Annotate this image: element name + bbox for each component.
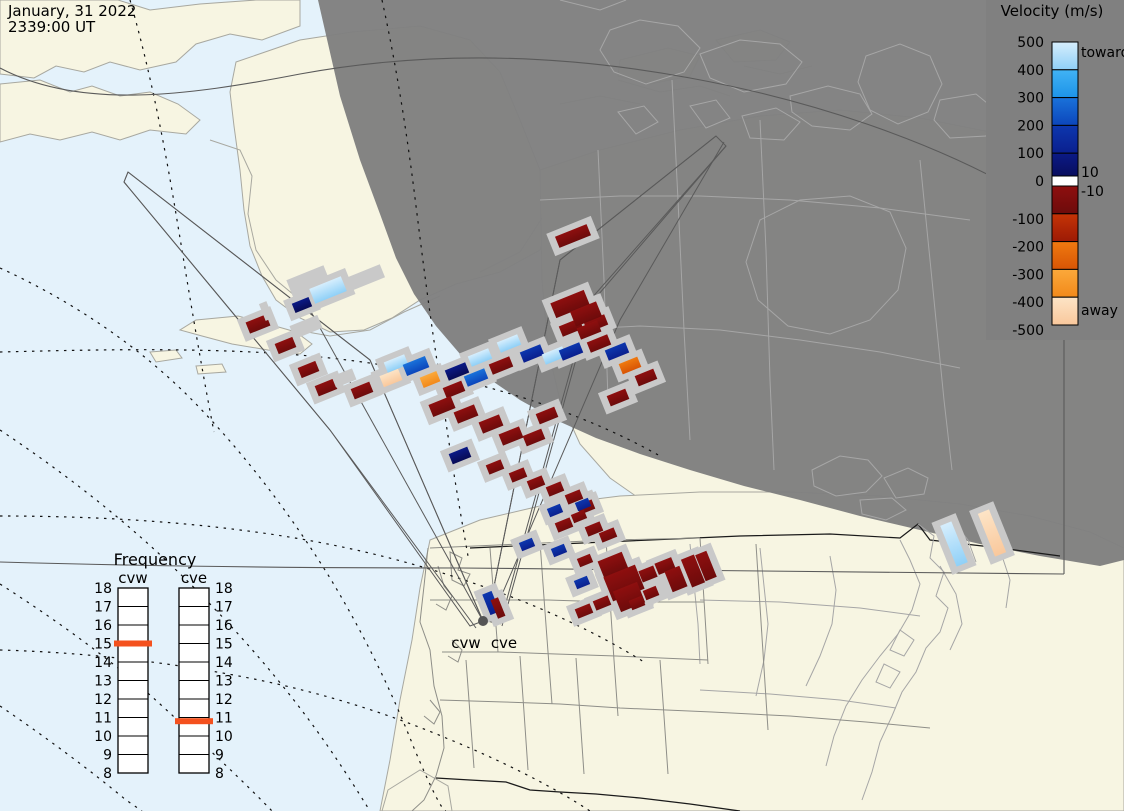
colorbar-center-positive-label: 10 <box>1081 165 1099 181</box>
frequency-left-tick-15: 15 <box>94 637 112 653</box>
colorbar-panel: Velocity (m/s) 5004003002001000-100-200-… <box>986 0 1124 340</box>
colorbar-tick-4: 100 <box>1017 146 1044 162</box>
colorbar-swatch-b4 <box>1052 70 1078 98</box>
colorbar-tick-3: 200 <box>1017 118 1044 134</box>
colorbar-tick-5: 0 <box>1035 174 1044 190</box>
frequency-left-tick-13: 13 <box>94 674 112 690</box>
frequency-left-tick-9: 9 <box>103 748 112 764</box>
frequency-right-tick-10: 10 <box>215 729 233 745</box>
colorbar-tick-9: -400 <box>1012 295 1044 311</box>
frequency-right-tick-8: 8 <box>215 766 224 782</box>
colorbar-swatch-r1 <box>1052 186 1078 214</box>
frequency-left-tick-10: 10 <box>94 729 112 745</box>
frequency-right-tick-17: 17 <box>215 600 233 616</box>
colorbar-tick-7: -200 <box>1012 240 1044 256</box>
radar-label-cve: cve <box>491 634 517 652</box>
frequency-left-tick-17: 17 <box>94 600 112 616</box>
colorbar-toward-label: toward <box>1081 45 1124 61</box>
radar-label-cvw: cvw <box>451 634 480 652</box>
frequency-legend-title: Frequency <box>114 550 197 569</box>
colorbar-center-negative-label: -10 <box>1081 184 1104 200</box>
colorbar-tick-8: -300 <box>1012 267 1044 283</box>
colorbar-header: Velocity (m/s) <box>1001 2 1104 20</box>
colorbar-swatch-r2 <box>1052 214 1078 242</box>
title-time: 2339:00 UT <box>8 18 96 36</box>
frequency-right-tick-12: 12 <box>215 692 233 708</box>
colorbar-tick-10: -500 <box>1012 323 1044 339</box>
radar-site-marker <box>478 616 488 626</box>
radar-map-root: cvwcve January, 31 2022 2339:00 UT Veloc… <box>0 0 1124 811</box>
frequency-right-tick-11: 11 <box>215 711 233 727</box>
frequency-left-tick-16: 16 <box>94 618 112 634</box>
frequency-left-tick-11: 11 <box>94 711 112 727</box>
frequency-right-tick-13: 13 <box>215 674 233 690</box>
frequency-right-tick-14: 14 <box>215 655 233 671</box>
frequency-right-name: cve <box>181 569 207 587</box>
colorbar-swatch-r3 <box>1052 242 1078 270</box>
colorbar-swatch-neutral <box>1052 176 1078 186</box>
frequency-right-tick-9: 9 <box>215 748 224 764</box>
frequency-right-tick-16: 16 <box>215 618 233 634</box>
frequency-left-marker <box>114 641 152 647</box>
colorbar-tick-1: 400 <box>1017 63 1044 79</box>
colorbar-swatch-r5 <box>1052 297 1078 325</box>
colorbar-swatch-b3 <box>1052 98 1078 126</box>
colorbar-tick-2: 300 <box>1017 91 1044 107</box>
frequency-right-tick-18: 18 <box>215 581 233 597</box>
frequency-left-tick-12: 12 <box>94 692 112 708</box>
frequency-left-tick-14: 14 <box>94 655 112 671</box>
frequency-left-name: cvw <box>118 569 147 587</box>
colorbar-away-label: away <box>1081 303 1118 319</box>
colorbar-tick-6: -100 <box>1012 212 1044 228</box>
frequency-right-tick-15: 15 <box>215 637 233 653</box>
colorbar-tick-0: 500 <box>1017 35 1044 51</box>
colorbar-swatch-b2 <box>1052 125 1078 153</box>
frequency-left-tick-8: 8 <box>103 766 112 782</box>
frequency-left-tick-18: 18 <box>94 581 112 597</box>
frequency-right-marker <box>175 718 213 724</box>
colorbar-swatch-b5 <box>1052 42 1078 70</box>
colorbar-swatches <box>1052 42 1078 325</box>
colorbar-swatch-r4 <box>1052 269 1078 297</box>
